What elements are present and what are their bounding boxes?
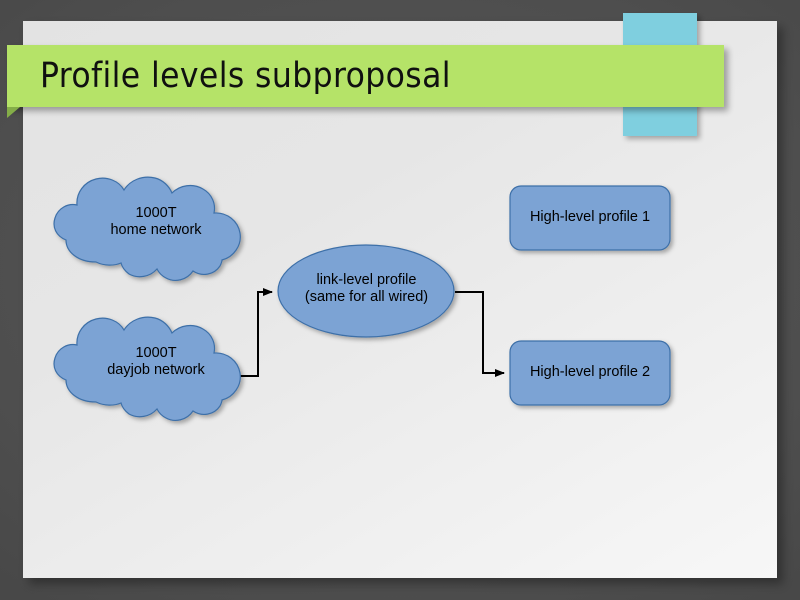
diagram-canvas: 1000T home network 1000T dayjob network …: [0, 0, 800, 600]
connector-linklevel-to-profile2: [455, 292, 504, 373]
connector-dayjob-to-linklevel: [232, 292, 272, 376]
node-box-high-level-profile-1[interactable]: [510, 186, 670, 250]
presentation-stage: Profile levels subproposal: [0, 0, 800, 600]
node-ellipse-link-level-profile[interactable]: [278, 245, 454, 337]
node-cloud-dayjob-network[interactable]: [54, 317, 240, 420]
node-cloud-home-network[interactable]: [54, 177, 240, 280]
node-box-high-level-profile-2[interactable]: [510, 341, 670, 405]
